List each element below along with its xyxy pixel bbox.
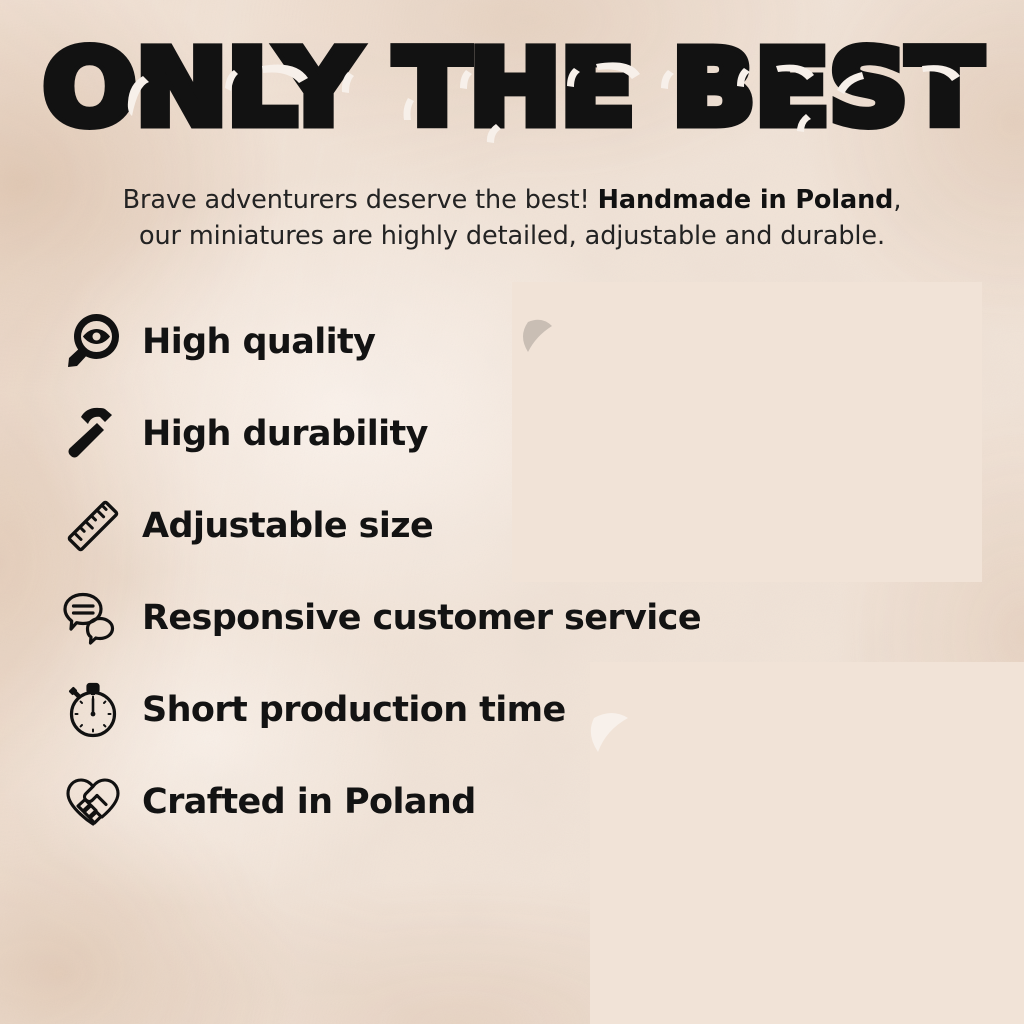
heart-handshake-icon — [62, 771, 124, 833]
subtitle-line2: our miniatures are highly detailed, adju… — [139, 221, 885, 251]
speech-bubbles-icon — [62, 587, 124, 649]
subtitle-bold-phrase: Handmade in Poland — [598, 185, 894, 215]
painting-workshop-photo — [590, 662, 1024, 1024]
feature-label: Responsive customer service — [142, 598, 701, 638]
feature-label: Adjustable size — [142, 506, 433, 546]
headline-block: ONLY THE BEST — [0, 36, 1024, 140]
promo-poster: ONLY THE BEST Brave adventurers deserve … — [0, 0, 1024, 1024]
subtitle-line1-post: , — [893, 185, 901, 215]
dragon-miniature — [708, 740, 858, 872]
magnifier-eye-icon — [62, 311, 124, 373]
stopwatch-icon — [62, 679, 124, 741]
hammer-icon — [62, 403, 124, 465]
subtitle: Brave adventurers deserve the best! Hand… — [62, 182, 962, 254]
feature-label: Crafted in Poland — [142, 782, 476, 822]
subtitle-line1-pre: Brave adventurers deserve the best! — [123, 185, 598, 215]
ruler-icon — [62, 495, 124, 557]
feature-label: High durability — [142, 414, 428, 454]
flexible-miniature-part — [652, 440, 852, 488]
feature-label: Short production time — [142, 690, 566, 730]
fingernail — [609, 418, 658, 461]
feature-label: High quality — [142, 322, 375, 362]
page-title: ONLY THE BEST — [0, 36, 1024, 140]
feature-item-customer-service: Responsive customer service — [62, 582, 762, 654]
shelf-label-tag — [718, 680, 768, 704]
fingernail — [870, 384, 920, 430]
flexible-miniature-photo — [512, 282, 982, 582]
